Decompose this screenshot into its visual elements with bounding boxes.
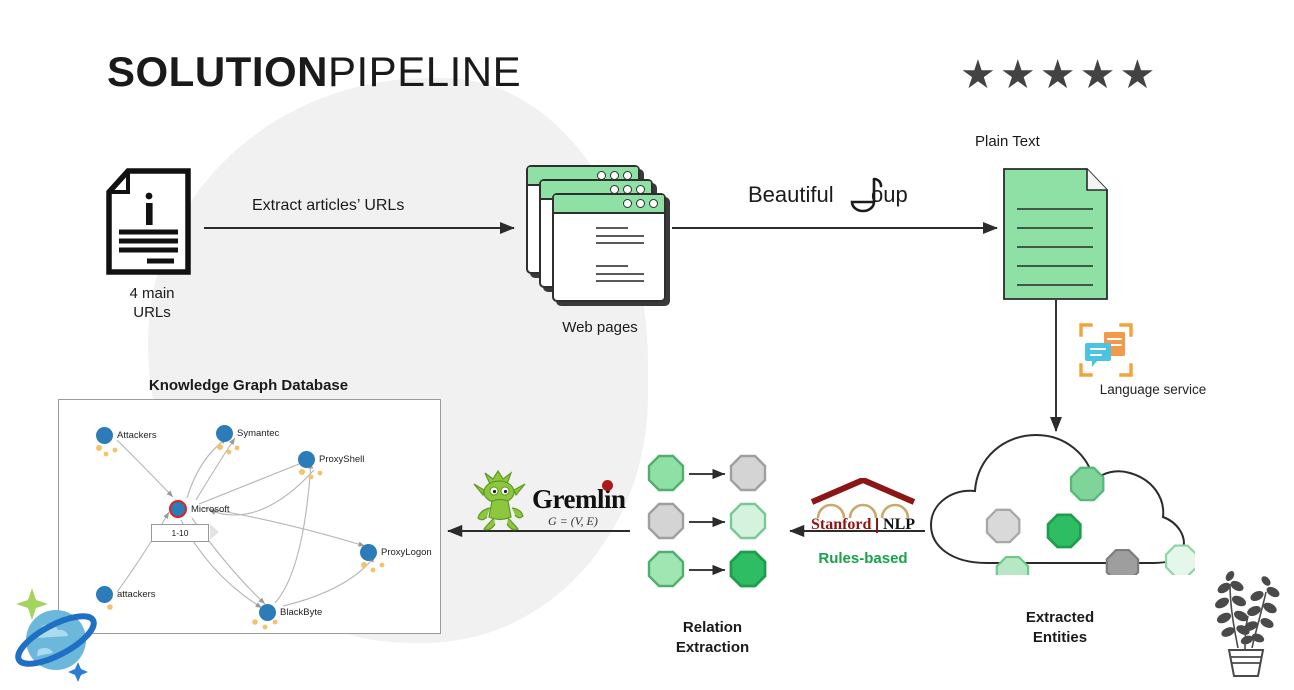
graph-node-proxylogon[interactable] — [360, 544, 377, 561]
title-light: PIPELINE — [328, 48, 521, 95]
web-pages-label: Web pages — [520, 319, 680, 338]
extracted-entities-label: Extracted Entities — [965, 608, 1155, 647]
graph-node-label: ProxyShell — [319, 454, 364, 465]
graph-node-label: Symantec — [237, 428, 279, 439]
beautifulsoup-logo: Beautiful oup — [748, 176, 908, 218]
graph-node-microsoft[interactable] — [169, 500, 187, 518]
plain-text-label: Plain Text — [975, 133, 1135, 150]
graph-node-label: Attackers — [117, 430, 157, 441]
graph-pagination-box[interactable]: 1-10 — [151, 524, 209, 542]
extract-urls-label: Extract articles’ URLs — [252, 197, 404, 215]
stanford-divider — [876, 518, 878, 533]
cosmos-db-planet-icon — [2, 578, 112, 683]
language-service-label: Language service — [1083, 382, 1223, 397]
title-bold: SOLUTION — [107, 48, 328, 95]
pagination-next-arrow[interactable] — [210, 524, 219, 540]
window-dot — [623, 199, 632, 208]
gremlin-formula: G = (V, E) — [548, 514, 598, 529]
potted-plant-icon — [1208, 566, 1282, 678]
graph-node-blackbyte[interactable] — [259, 604, 276, 621]
window-dot — [649, 199, 658, 208]
relation-extraction-graphic — [645, 448, 765, 590]
graph-node-label: Microsoft — [191, 504, 230, 515]
graph-node-proxyshell[interactable] — [298, 451, 315, 468]
page-title: SOLUTIONPIPELINE — [107, 48, 521, 96]
relation-extraction-label: Relation Extraction — [625, 618, 800, 657]
source-document-label: 4 main URLs — [92, 285, 212, 323]
knowledge-graph-title: Knowledge Graph Database — [58, 377, 439, 394]
stanford-text: Stanford — [811, 516, 871, 534]
window-titlebar — [554, 195, 664, 214]
language-service-icon — [1078, 322, 1134, 378]
knowledge-graph-panel[interactable]: Attackers Symantec ProxyShell Microsoft … — [58, 399, 441, 634]
beautifulsoup-text-right: oup — [871, 182, 908, 208]
stanford-nlp-logo: Stanford NLP — [806, 478, 920, 536]
star-rating: ★★★★★ — [960, 52, 1159, 98]
gremlin-logo: Gremlin G = (V, E) — [472, 470, 622, 532]
rules-based-label: Rules-based — [802, 550, 924, 567]
nlp-text: NLP — [883, 516, 915, 534]
window-dot — [636, 199, 645, 208]
extracted-entities-cloud — [925, 425, 1195, 575]
beautifulsoup-text-left: Beautiful — [748, 182, 834, 208]
graph-node-label: attackers — [117, 589, 156, 600]
graph-node-label: BlackByte — [280, 607, 322, 618]
gremlin-mascot-icon — [472, 470, 534, 532]
gremlin-red-dot — [602, 480, 613, 491]
graph-node-attackers-upper[interactable] — [96, 427, 113, 444]
graph-node-symantec[interactable] — [216, 425, 233, 442]
source-document-icon — [104, 168, 200, 276]
web-pages-icon — [520, 165, 660, 305]
graph-node-label: ProxyLogon — [381, 547, 432, 558]
plain-text-document-icon — [1003, 168, 1109, 300]
browser-window-front — [552, 193, 666, 302]
